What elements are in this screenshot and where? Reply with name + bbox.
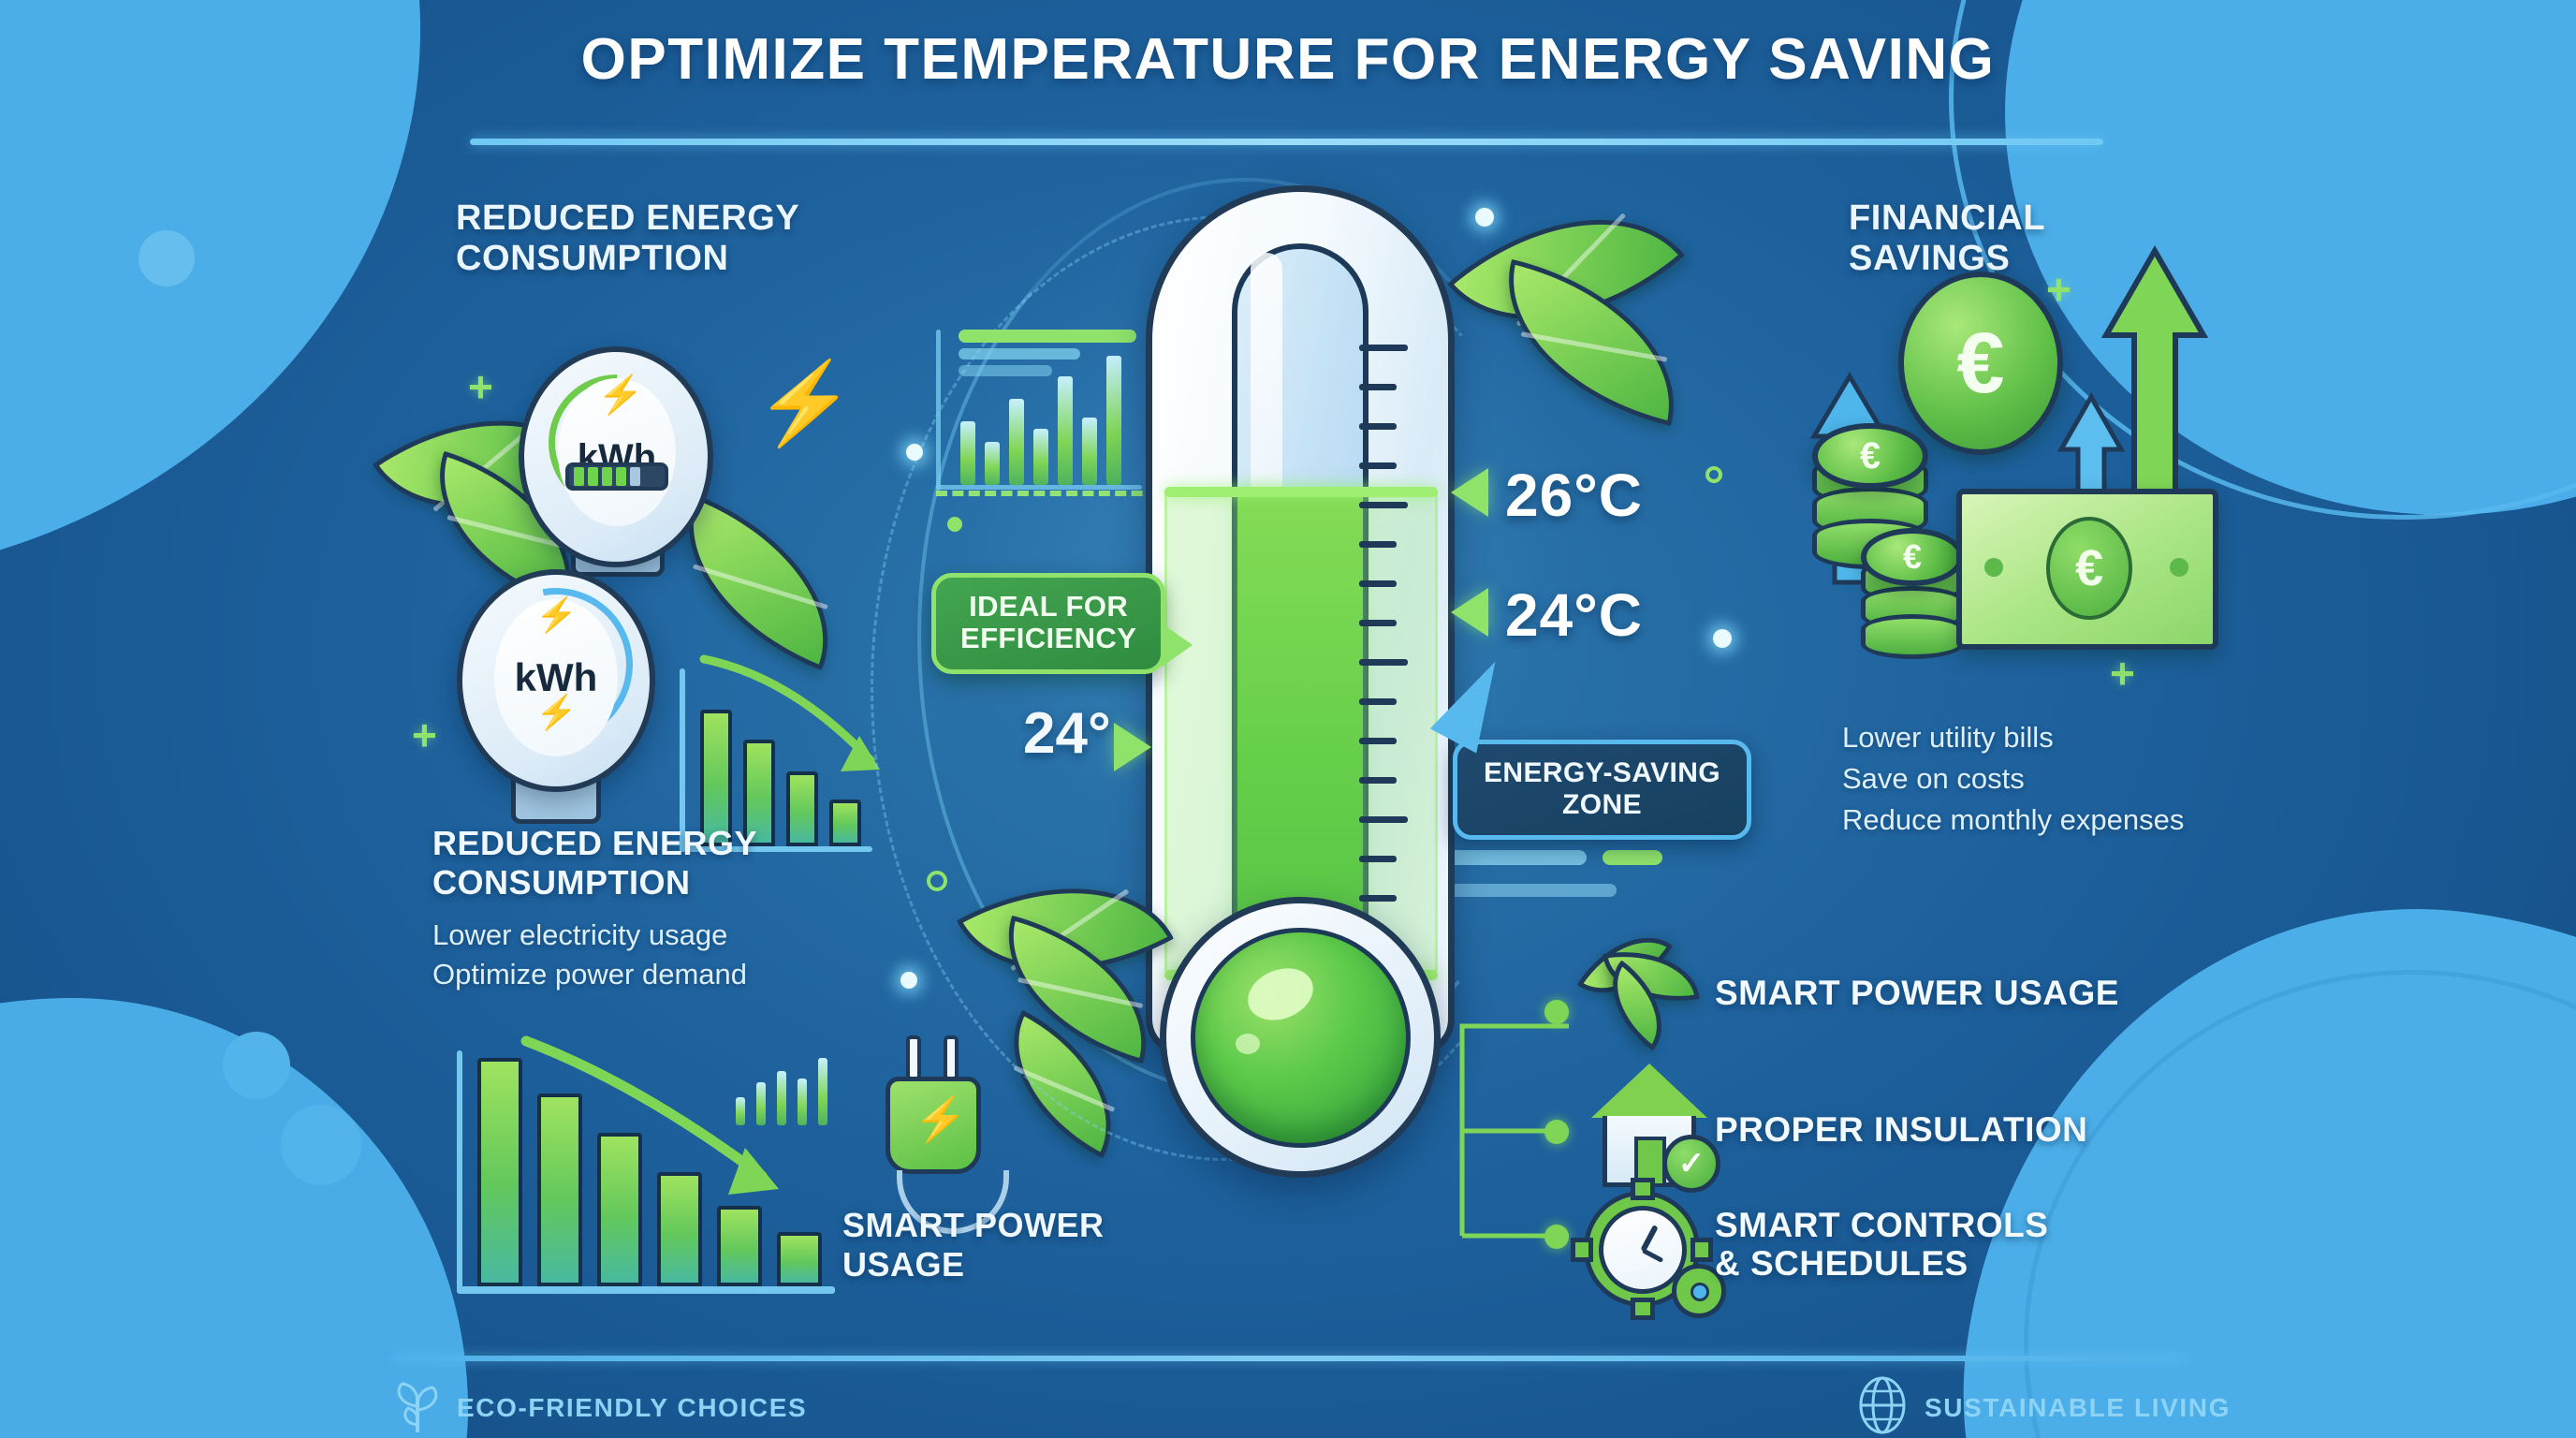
decorative-dot [139, 230, 195, 286]
temperature-lower-label: 24°C [1505, 580, 1643, 650]
plus-decoration: + [468, 361, 493, 412]
small-circle-marker [927, 871, 947, 891]
right-heading-line1: FINANCIAL [1849, 198, 2317, 239]
gear-center-small [1690, 1283, 1709, 1301]
currency-symbol: € [1903, 537, 1922, 577]
plug-prong [906, 1035, 921, 1080]
left-heading-line2: CONSUMPTION [456, 239, 961, 279]
banknote-euro-emblem: € [2046, 517, 2132, 620]
currency-symbol: € [2075, 539, 2103, 597]
chart-bar [736, 1097, 745, 1125]
glow-dot [1475, 208, 1494, 227]
lightning-bolt-icon: ⚡ [597, 373, 644, 417]
badge-zone-line2: ZONE [1484, 789, 1720, 821]
chart-bar [1058, 376, 1073, 485]
left-subsection-heading: REDUCED ENERGY CONSUMPTION [432, 824, 919, 902]
smart-power-usage-label-left: SMART POWER USAGE [842, 1206, 1179, 1284]
infographic-canvas: OPTIMIZE TEMPERATURE FOR ENERGY SAVING R… [0, 0, 2576, 1438]
feature-label-smart-controls: SMART CONTROLS & SCHEDULES [1715, 1206, 2048, 1284]
pointer-triangle-left-upper [1451, 468, 1488, 517]
pointer-triangle-left-lower [1451, 588, 1488, 637]
gear-tooth [1571, 1238, 1593, 1262]
badge-zone-line1: ENERGY-SAVING [1484, 757, 1720, 789]
chart-x-axis [457, 1286, 835, 1294]
status-bar-row [1446, 850, 1587, 865]
lightning-bolt-icon: ⚡ [914, 1093, 967, 1145]
thermometer-bulb-fill [1191, 928, 1411, 1148]
glow-dot [900, 972, 917, 989]
energy-saving-zone-badge: ENERGY-SAVING ZONE [1453, 740, 1751, 840]
glow-dot [1713, 629, 1732, 648]
footer-left-label: ECO-FRIENDLY CHOICES [457, 1393, 807, 1423]
connector-node [1544, 1225, 1569, 1249]
chart-bar [477, 1058, 522, 1286]
euro-coin-stack-top: € [1861, 528, 1964, 586]
feature-label-smart-power: SMART POWER USAGE [1715, 974, 2119, 1014]
background-blob-top-left [0, 0, 519, 641]
smart-power-line2: USAGE [842, 1245, 1179, 1284]
feature-label-insulation: PROPER INSULATION [1715, 1110, 2087, 1151]
right-bullet-list: Lower utility bills Save on costs Reduce… [1842, 717, 2441, 841]
small-circle-marker [947, 517, 962, 532]
progress-bar-row [959, 348, 1080, 359]
status-bar-row [1446, 884, 1617, 897]
coin-stack-layer [1861, 614, 1964, 659]
thermometer [1146, 185, 1455, 1271]
plug-prong [944, 1035, 959, 1080]
left-heading-line1: REDUCED ENERGY [456, 198, 961, 239]
feature-line1: SMART CONTROLS [1715, 1206, 2048, 1244]
chart-y-axis [457, 1050, 462, 1292]
progress-bar-row [959, 365, 1052, 376]
check-badge-icon: ✓ [1662, 1135, 1720, 1193]
background-arc-bottom-right [2024, 970, 2576, 1438]
left-sub-heading-line2: CONSUMPTION [432, 863, 919, 902]
glow-dot [906, 444, 923, 461]
leaf-sprout-icon [391, 1378, 444, 1434]
chart-bar [756, 1082, 766, 1125]
page-title: OPTIMIZE TEMPERATURE FOR ENERGY SAVING [0, 26, 2576, 93]
bulb-highlight-small [1236, 1034, 1260, 1054]
lightning-bolt-icon: ⚡ [535, 595, 578, 635]
meter-led-bar [565, 462, 668, 491]
decorative-dot [281, 1105, 361, 1185]
ideal-for-efficiency-badge: IDEAL FOR EFFICIENCY [931, 573, 1165, 674]
gear-tooth [1631, 1178, 1655, 1200]
plus-decoration: + [2110, 648, 2135, 698]
gear-tooth [1631, 1298, 1655, 1320]
chart-bar [777, 1232, 822, 1286]
decorative-dot [223, 1032, 290, 1099]
right-section-heading: FINANCIAL SAVINGS [1849, 198, 2317, 279]
left-section-heading: REDUCED ENERGY CONSUMPTION [456, 198, 961, 279]
pointer-triangle-right [1114, 723, 1151, 771]
chart-bar [1009, 399, 1024, 485]
chart-bar [960, 421, 975, 485]
list-item: Lower utility bills [1842, 717, 2441, 758]
footer-right-label: SUSTAINABLE LIVING [1925, 1393, 2231, 1423]
list-item: Save on costs [1842, 758, 2441, 800]
euro-coin-stack-top: € [1812, 423, 1928, 489]
feature-line2: & SCHEDULES [1715, 1244, 2048, 1283]
list-item: Optimize power demand [432, 955, 957, 994]
chart-bar [1106, 356, 1121, 485]
temperature-upper-label: 26°C [1505, 461, 1643, 530]
list-item: Reduce monthly expenses [1842, 800, 2441, 841]
chart-x-axis [936, 485, 1142, 490]
plus-decoration: + [412, 710, 437, 760]
banknote-dot [2170, 558, 2188, 577]
lightning-bolt-icon-large: ⚡ [754, 356, 855, 450]
temperature-left-label: 24° [1023, 700, 1111, 767]
chart-bar [985, 442, 1000, 485]
house-roof-icon [1591, 1064, 1707, 1118]
sparkline-chart [732, 1058, 844, 1125]
smart-power-line1: SMART POWER [842, 1206, 1179, 1245]
small-circle-marker [1705, 466, 1722, 483]
chart-y-axis [936, 330, 941, 491]
euro-coin-large: € [1898, 271, 2063, 455]
plus-decoration: + [2046, 264, 2071, 315]
zone-guide-line-top [936, 491, 1159, 496]
globe-icon [1855, 1376, 1910, 1434]
chart-bar [777, 1071, 786, 1125]
banknote-dot [1984, 558, 2003, 577]
connector-node [1544, 1120, 1569, 1144]
chart-bar [1082, 418, 1097, 485]
left-sub-heading-line1: REDUCED ENERGY [432, 824, 919, 863]
chart-bar [1033, 429, 1048, 485]
gear-tooth [1690, 1238, 1713, 1262]
left-bullet-list: Lower electricity usage Optimize power d… [432, 916, 957, 994]
chart-bar [818, 1058, 827, 1125]
lightning-bolt-icon: ⚡ [535, 693, 578, 732]
progress-bar-row [959, 330, 1136, 343]
footer-divider [393, 1356, 2190, 1361]
connector-node [1544, 1000, 1569, 1024]
status-bar-row [1603, 850, 1662, 865]
chart-bar [798, 1078, 807, 1125]
currency-symbol: € [1860, 435, 1881, 477]
right-heading-line2: SAVINGS [1849, 239, 2317, 279]
badge-ideal-line2: EFFICIENCY [960, 623, 1136, 654]
currency-symbol: € [1956, 315, 2004, 413]
list-item: Lower electricity usage [432, 916, 957, 955]
badge-ideal-line1: IDEAL FOR [960, 591, 1136, 623]
